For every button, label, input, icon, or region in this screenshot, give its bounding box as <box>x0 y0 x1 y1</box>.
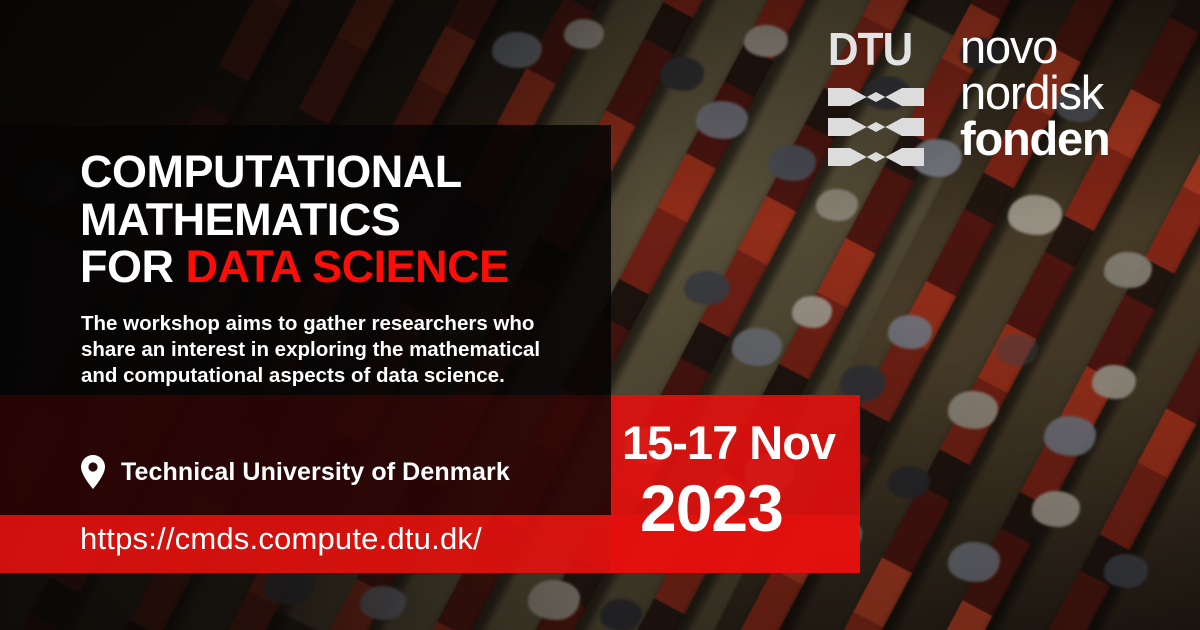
page-title: COMPUTATIONAL MATHEMATICS FOR DATA SCIEN… <box>80 148 610 291</box>
dtu-logo: DTU <box>828 26 940 176</box>
event-year: 2023 <box>640 470 783 546</box>
event-website-link[interactable]: https://cmds.compute.dtu.dk/ <box>80 521 482 557</box>
logo-group: DTU novo nordisk fonden <box>820 18 1180 178</box>
nnf-line-fonden: fonden <box>960 115 1178 163</box>
headline-line-2: MATHEMATICS <box>80 196 610 244</box>
headline-line-3-prefix: FOR <box>80 241 186 292</box>
map-pin-icon <box>81 455 105 489</box>
nnf-line-nordisk: nordisk <box>960 70 1178 116</box>
novo-nordisk-fonden-logo: novo nordisk fonden <box>960 24 1178 163</box>
headline-line-1: COMPUTATIONAL <box>80 148 610 196</box>
dtu-wave-mark-icon <box>828 86 940 170</box>
workshop-description: The workshop aims to gather researchers … <box>81 311 581 390</box>
headline-line-3-accent: DATA SCIENCE <box>186 241 509 292</box>
event-banner: COMPUTATIONAL MATHEMATICS FOR DATA SCIEN… <box>0 0 1200 630</box>
headline-line-3: FOR DATA SCIENCE <box>80 243 610 291</box>
dtu-wordmark: DTU <box>828 26 931 72</box>
nnf-line-novo: novo <box>960 24 1178 70</box>
event-date-range: 15-17 Nov <box>622 415 835 470</box>
venue-line: Technical University of Denmark <box>81 455 510 489</box>
venue-label: Technical University of Denmark <box>121 458 510 487</box>
